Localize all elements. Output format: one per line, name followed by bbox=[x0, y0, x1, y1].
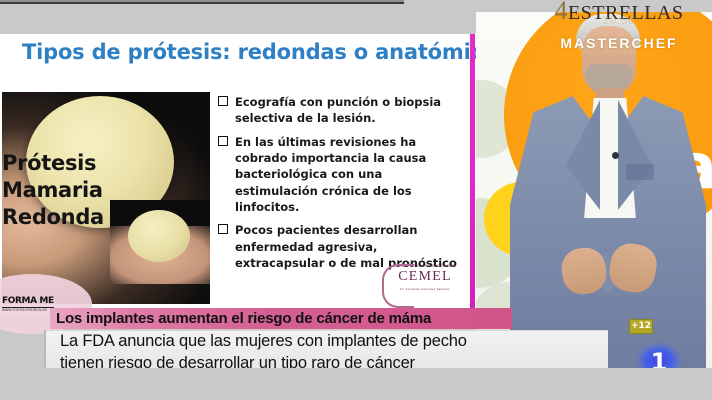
slide-right-magenta-edge bbox=[470, 34, 475, 316]
lower-third-headline-bar: Los implantes aumentan el riesgo de cánc… bbox=[50, 308, 512, 329]
promo-time-2: 21:35 bbox=[534, 44, 704, 56]
top-divider-dark bbox=[0, 2, 404, 4]
presenter-lapel-microphone bbox=[612, 152, 619, 159]
program-promo-overlay: 4ESTRELLAS 20:50 MASTERCHEF 21:35 bbox=[534, 0, 704, 58]
cemel-swoosh-icon bbox=[382, 264, 414, 308]
cemel-logo: CENTRO MEDICO ESTETICO LASER CEMEL Dr. F… bbox=[382, 262, 468, 306]
checkbox-bullet-icon bbox=[218, 224, 228, 234]
photo-caption: Prótesis Mamaria Redonda bbox=[2, 150, 152, 231]
photo-caption-line-1: Prótesis bbox=[2, 150, 152, 177]
photo-caption-line-3: Redonda bbox=[2, 204, 152, 231]
slide-title: Tipos de prótesis: redondas o anatómicas bbox=[22, 40, 462, 64]
age-rating-badge: +12 bbox=[629, 319, 653, 334]
promo-time-1: 20:50 bbox=[534, 15, 704, 27]
watermark-url: www.forma-medica.es bbox=[2, 307, 47, 312]
presenter-pocket-square bbox=[626, 164, 654, 180]
lower-third-subtitle-line-2: tienen riesgo de desarrollar un tipo rar… bbox=[60, 353, 608, 369]
presenter bbox=[500, 12, 712, 368]
presentation-slide: Tipos de prótesis: redondas o anatómicas… bbox=[0, 34, 476, 314]
lower-third-subtitle-bar: La FDA anuncia que las mujeres con impla… bbox=[44, 330, 608, 368]
bullet-text: Ecografía con punción o biopsia selectiv… bbox=[235, 95, 441, 125]
list-item: En las últimas revisiones ha cobrado imp… bbox=[218, 134, 468, 216]
list-item: Ecografía con punción o biopsia selectiv… bbox=[218, 94, 468, 127]
bullet-text: En las últimas revisiones ha cobrado imp… bbox=[235, 135, 426, 214]
screenshot-stage: Cerca Tipos de prótesis: red bbox=[0, 0, 712, 400]
checkbox-bullet-icon bbox=[218, 136, 228, 146]
broadcast-video-frame: Cerca Tipos de prótesis: red bbox=[0, 12, 712, 368]
lower-third-headline-text: Los implantes aumentan el riesgo de cánc… bbox=[56, 310, 431, 327]
channel-logo-number: 1 bbox=[636, 348, 682, 368]
channel-logo-bug: 1 bbox=[636, 342, 682, 368]
checkbox-bullet-icon bbox=[218, 96, 228, 106]
lower-third-subtitle-line-1: La FDA anuncia que las mujeres con impla… bbox=[60, 331, 608, 352]
slide-bullet-list: Ecografía con punción o biopsia selectiv… bbox=[218, 94, 468, 278]
photo-caption-line-2: Mamaria bbox=[2, 177, 152, 204]
